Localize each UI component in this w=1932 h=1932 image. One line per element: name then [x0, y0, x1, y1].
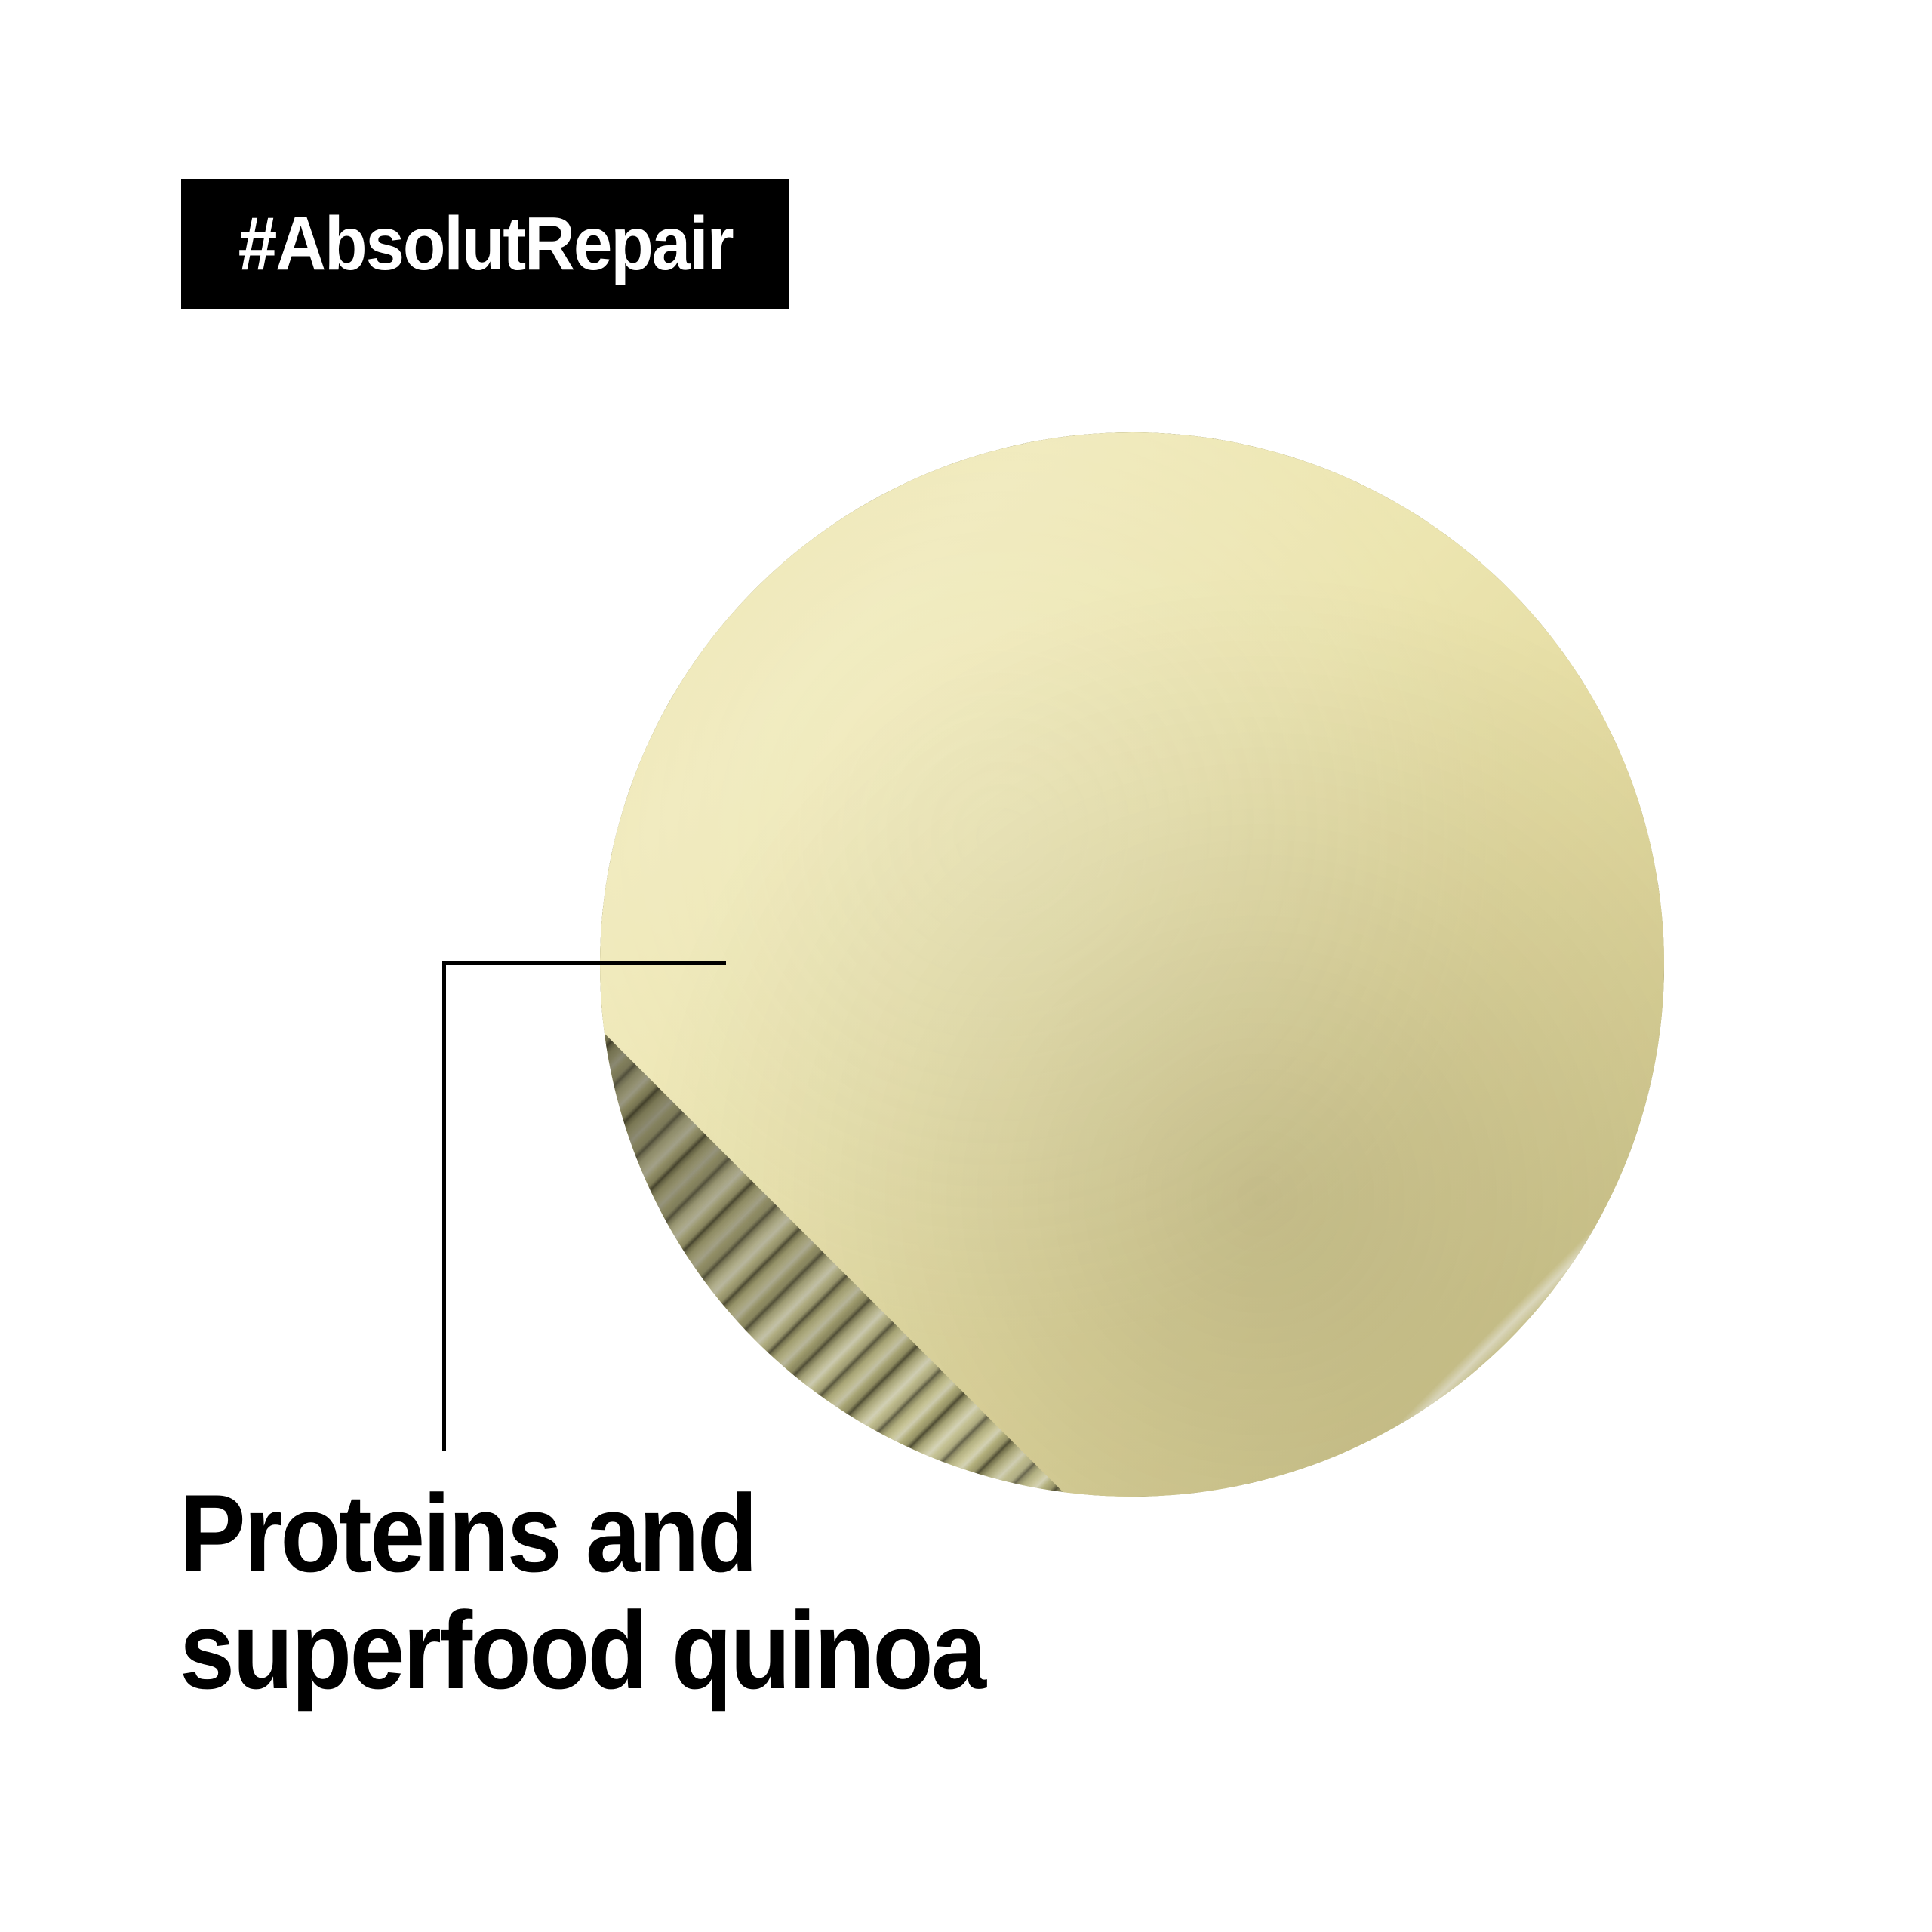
callout-line-vertical [442, 961, 446, 1451]
ingredient-caption-line-2: superfood quinoa [180, 1592, 984, 1709]
ingredient-caption: Proteins and superfood quinoa [180, 1475, 984, 1709]
hashtag-badge-label: #AbsolutRepair [238, 206, 733, 281]
callout-line-horizontal [442, 961, 726, 965]
ingredient-caption-line-1: Proteins and [180, 1475, 984, 1592]
ingredient-card: #AbsolutRepair Proteins and superfood qu… [0, 0, 1932, 1932]
hashtag-badge: #AbsolutRepair [181, 179, 789, 309]
ingredient-photo-circle [600, 432, 1664, 1497]
photo-vignette [600, 432, 1664, 1497]
